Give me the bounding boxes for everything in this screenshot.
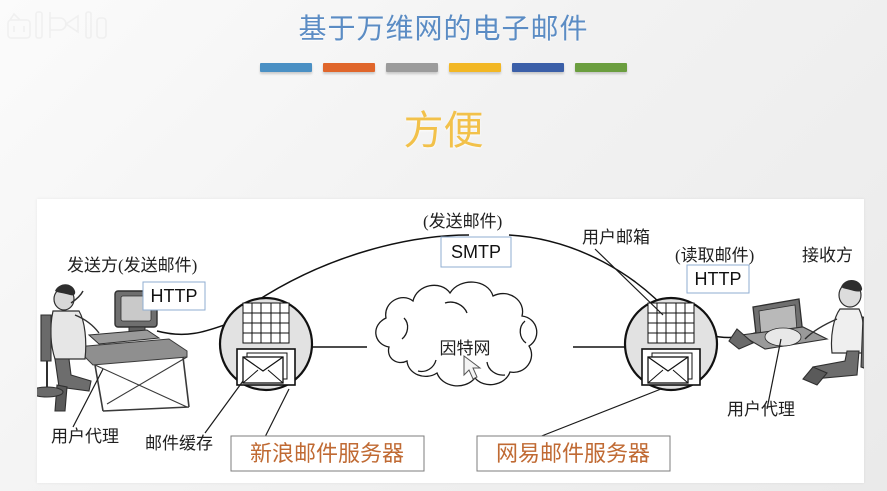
sender-label: 发送方(发送邮件) [67, 256, 197, 275]
bar-orange [323, 63, 375, 72]
receiver-label: 接收方 [802, 246, 853, 265]
divider-bars [0, 63, 887, 72]
sender-user-agent-label: 用户代理 [51, 427, 119, 446]
bar-blue-light [260, 63, 312, 72]
sender-http-protocol-box: HTTP [143, 282, 205, 310]
bar-blue-dark [512, 63, 564, 72]
mail-cache-label: 邮件缓存 [145, 434, 213, 453]
sina-mail-server-label-box: 新浪邮件服务器 [231, 436, 424, 471]
page-title: 基于万维网的电子邮件 [0, 13, 887, 47]
bar-yellow [449, 63, 501, 72]
netease-mail-server-label: 网易邮件服务器 [496, 441, 650, 466]
slide-subtitle: 方便 [0, 104, 887, 158]
smtp-protocol-box: SMTP [441, 237, 511, 267]
user-mailbox-label: 用户邮箱 [582, 228, 650, 247]
read-mail-label: (读取邮件) [675, 246, 754, 265]
smtp-label: SMTP [451, 242, 501, 262]
send-mail-label: (发送邮件) [423, 212, 502, 231]
receiver-http-label: HTTP [695, 269, 742, 289]
receiver-http-protocol-box: HTTP [687, 265, 749, 293]
sina-mail-server-label: 新浪邮件服务器 [250, 441, 404, 466]
receiver-workstation-illustration [729, 280, 864, 385]
bar-gray [386, 63, 438, 72]
sender-http-label: HTTP [151, 286, 198, 306]
email-architecture-diagram: 因特网 [37, 199, 864, 483]
slide-canvas: 基于万维网的电子邮件 方便 [0, 0, 887, 491]
internet-label: 因特网 [440, 339, 491, 358]
receiver-user-agent-label: 用户代理 [727, 400, 795, 419]
sina-mail-server-icon [220, 298, 312, 390]
netease-mail-server-icon [625, 298, 717, 390]
netease-mail-server-label-box: 网易邮件服务器 [477, 436, 670, 471]
bar-green [575, 63, 627, 72]
internet-cloud-icon [376, 282, 537, 386]
